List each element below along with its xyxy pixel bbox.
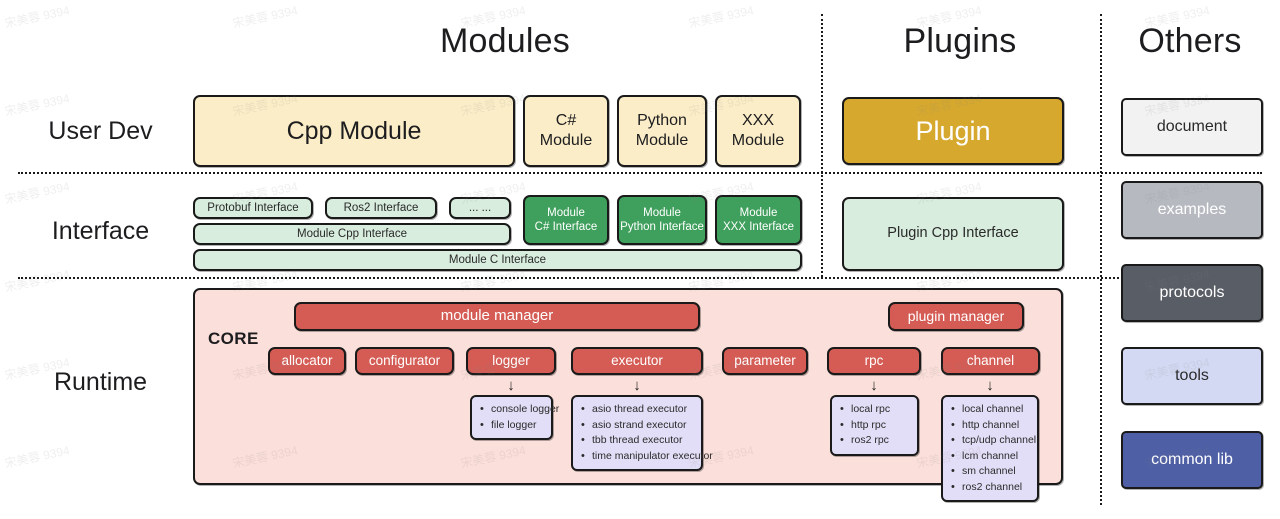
watermark: 宋美蓉 9394 xyxy=(3,177,71,207)
divider-plugins-others xyxy=(1100,14,1102,505)
runtime-box-executor[interactable]: executor xyxy=(571,347,703,375)
runtime-box-allocator[interactable]: allocator xyxy=(268,347,346,375)
list-item: http rpc xyxy=(840,418,910,434)
list-item: time manipulator executor xyxy=(581,449,694,465)
list-item: local channel xyxy=(951,402,1030,418)
runtime-box-rpc[interactable]: rpc xyxy=(827,347,921,375)
arrow-down-icon-logger: ↓ xyxy=(503,378,519,393)
others-box-protocols[interactable]: protocols xyxy=(1121,264,1263,322)
list-item: sm channel xyxy=(951,464,1030,480)
sublist-logger: console loggerfile logger xyxy=(470,395,553,440)
interface-box-module-xxx[interactable]: ModuleXXX Interface xyxy=(715,195,802,245)
core-label: CORE xyxy=(208,329,259,349)
column-header-others: Others xyxy=(1106,22,1274,61)
interface-box-plugin-cpp[interactable]: Plugin Cpp Interface xyxy=(842,197,1064,271)
row-label-runtime: Runtime xyxy=(18,368,183,397)
list-item: tbb thread executor xyxy=(581,433,694,449)
arrow-down-icon-executor: ↓ xyxy=(629,378,645,393)
interface-box-ellipsis[interactable]: ... ... xyxy=(449,197,511,219)
others-box-tools[interactable]: tools xyxy=(1121,347,1263,405)
interface-box-protobuf[interactable]: Protobuf Interface xyxy=(193,197,313,219)
others-box-examples[interactable]: examples xyxy=(1121,181,1263,239)
watermark: 宋美蓉 9394 xyxy=(3,441,71,471)
list-item: asio thread executor xyxy=(581,402,694,418)
list-item: asio strand executor xyxy=(581,418,694,434)
divider-userdev-interface xyxy=(18,172,1262,174)
list-item: file logger xyxy=(480,418,544,434)
runtime-box-plugin-manager[interactable]: plugin manager xyxy=(888,302,1024,331)
module-box-xxx[interactable]: XXXModule xyxy=(715,95,801,167)
list-item: ros2 channel xyxy=(951,480,1030,496)
runtime-box-configurator[interactable]: configurator xyxy=(355,347,454,375)
row-label-interface: Interface xyxy=(18,217,183,246)
watermark: 宋美蓉 9394 xyxy=(3,1,71,31)
runtime-box-module-manager[interactable]: module manager xyxy=(294,302,700,331)
module-box-csharp[interactable]: C#Module xyxy=(523,95,609,167)
watermark: 宋美蓉 9394 xyxy=(3,89,71,119)
interface-box-module-cpp[interactable]: Module Cpp Interface xyxy=(193,223,511,245)
runtime-box-channel[interactable]: channel xyxy=(941,347,1040,375)
others-box-document[interactable]: document xyxy=(1121,98,1263,156)
architecture-diagram: Modules Plugins Others User Dev Interfac… xyxy=(0,0,1280,519)
divider-interface-runtime xyxy=(18,277,1262,279)
interface-box-module-c[interactable]: Module C Interface xyxy=(193,249,802,271)
interface-box-module-python[interactable]: ModulePython Interface xyxy=(617,195,707,245)
row-label-user-dev: User Dev xyxy=(18,117,183,146)
others-box-common-lib[interactable]: common lib xyxy=(1121,431,1263,489)
module-box-python[interactable]: PythonModule xyxy=(617,95,707,167)
runtime-box-logger[interactable]: logger xyxy=(466,347,556,375)
list-item: lcm channel xyxy=(951,449,1030,465)
plugin-box[interactable]: Plugin xyxy=(842,97,1064,165)
list-item: local rpc xyxy=(840,402,910,418)
sublist-rpc: local rpchttp rpcros2 rpc xyxy=(830,395,919,456)
arrow-down-icon-channel: ↓ xyxy=(982,378,998,393)
watermark: 宋美蓉 9394 xyxy=(3,265,71,295)
list-item: console logger xyxy=(480,402,544,418)
column-header-plugins: Plugins xyxy=(826,22,1094,61)
sublist-channel: local channelhttp channeltcp/udp channel… xyxy=(941,395,1039,502)
divider-modules-plugins xyxy=(821,14,823,277)
list-item: ros2 rpc xyxy=(840,433,910,449)
list-item: tcp/udp channel xyxy=(951,433,1030,449)
interface-box-ros2[interactable]: Ros2 Interface xyxy=(325,197,437,219)
column-header-modules: Modules xyxy=(190,22,820,61)
sublist-executor: asio thread executorasio strand executor… xyxy=(571,395,703,471)
arrow-down-icon-rpc: ↓ xyxy=(866,378,882,393)
runtime-box-parameter[interactable]: parameter xyxy=(722,347,808,375)
list-item: http channel xyxy=(951,418,1030,434)
interface-box-module-csharp[interactable]: ModuleC# Interface xyxy=(523,195,609,245)
module-box-cpp[interactable]: Cpp Module xyxy=(193,95,515,167)
